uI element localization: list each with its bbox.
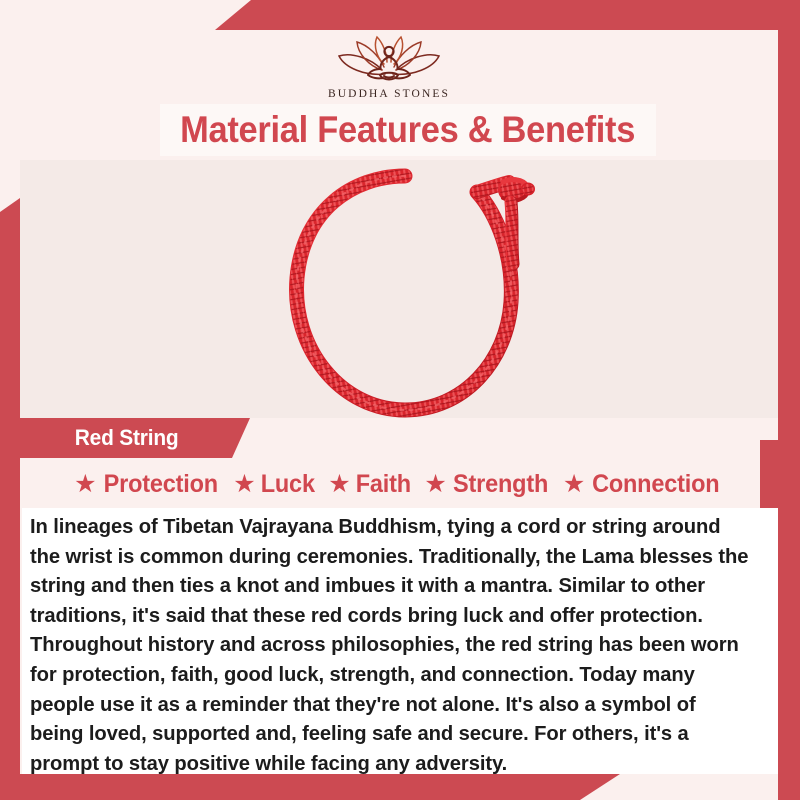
description-text: In lineages of Tibetan Vajrayana Buddhis… xyxy=(30,512,753,778)
star-icon: ★ xyxy=(424,472,446,497)
star-icon: ★ xyxy=(233,472,255,497)
benefits-list: ★ Protection ★ Luck ★ Faith ★ Strength ★… xyxy=(20,462,778,506)
benefit-item: ★ Luck xyxy=(233,470,316,499)
benefit-item: ★ Strength xyxy=(424,470,551,499)
benefit-item: ★ Protection xyxy=(74,470,221,499)
benefit-label: Strength xyxy=(453,470,548,499)
benefit-item: ★ Faith xyxy=(328,470,412,499)
right-red-border xyxy=(778,0,800,800)
product-label: Red String xyxy=(75,425,179,451)
red-braided-string-bracelet-image xyxy=(245,160,565,418)
brand-name: BUDDHA STONES xyxy=(328,88,450,100)
star-icon: ★ xyxy=(74,472,96,497)
infographic-page: BUDDHA STONES Material Features & Benefi… xyxy=(0,0,800,800)
lotus-meditation-icon xyxy=(325,34,453,86)
product-image-area xyxy=(20,160,778,418)
star-icon: ★ xyxy=(563,472,585,497)
benefit-label: Faith xyxy=(355,470,410,499)
star-icon: ★ xyxy=(328,472,350,497)
title-banner: Material Features & Benefits xyxy=(160,104,656,156)
benefit-item: ★ Connection xyxy=(563,470,724,499)
product-label-banner: Red String xyxy=(20,418,250,458)
brand-header: BUDDHA STONES xyxy=(0,30,778,105)
benefit-label: Protection xyxy=(103,470,217,499)
left-red-border xyxy=(0,198,20,800)
description-panel: In lineages of Tibetan Vajrayana Buddhis… xyxy=(22,508,778,774)
page-title: Material Features & Benefits xyxy=(181,109,636,151)
benefit-label: Luck xyxy=(260,470,314,499)
benefit-label: Connection xyxy=(592,470,719,499)
top-red-banner xyxy=(215,0,800,30)
